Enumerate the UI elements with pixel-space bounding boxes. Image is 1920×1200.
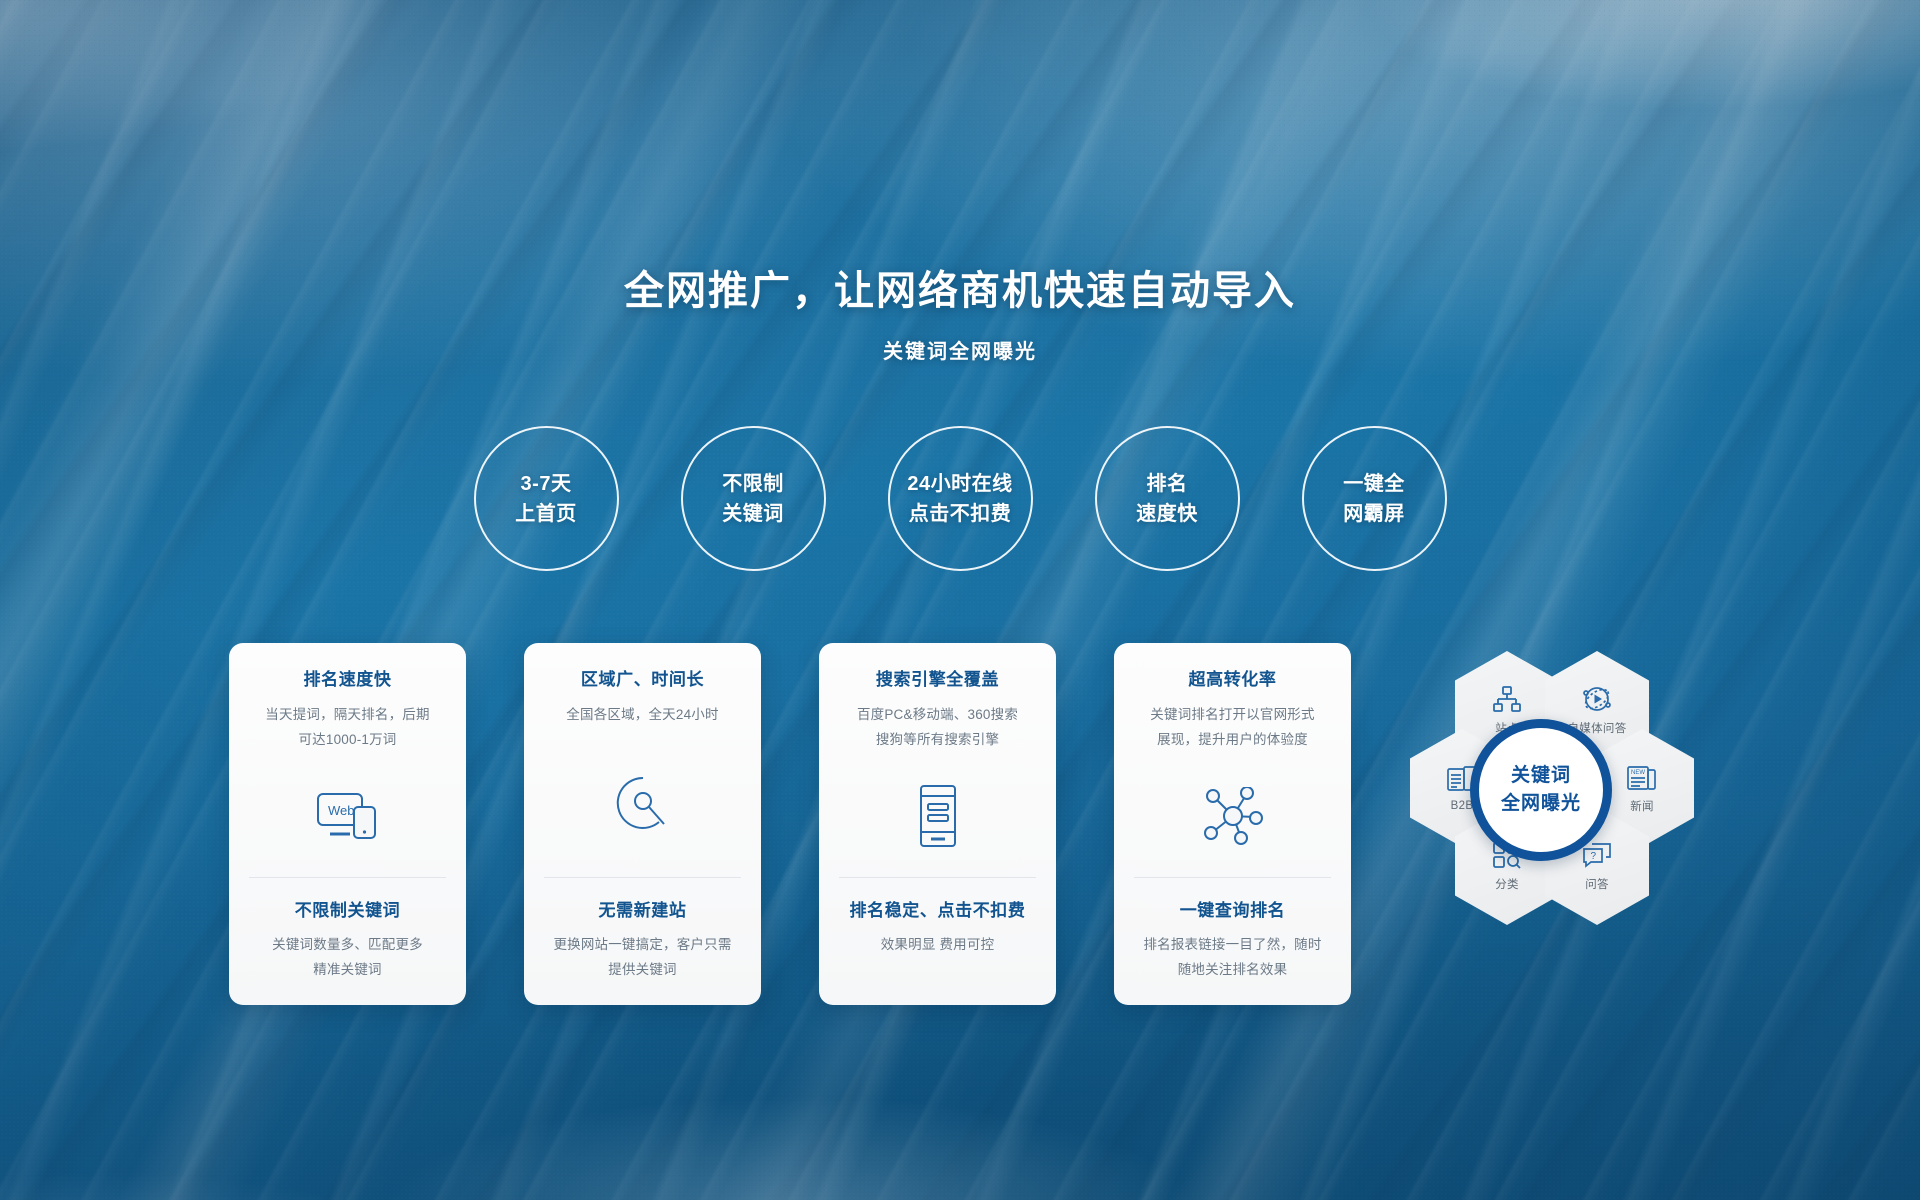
- feature-card-search-engines[interactable]: 搜索引擎全覆盖 百度PC&移动端、360搜索搜狗等所有搜索引擎: [819, 643, 1056, 1005]
- newspaper-new-icon: NEW: [1627, 762, 1657, 792]
- card-description: 百度PC&移动端、360搜索搜狗等所有搜索引擎: [833, 703, 1042, 753]
- circle-badge-line1: 24小时在线: [907, 469, 1012, 499]
- card-title: 一键查询排名: [1128, 896, 1337, 921]
- circle-badge-line2: 关键词: [722, 499, 784, 529]
- card-description: 更换网站一键搞定，客户只需提供关键词: [538, 933, 747, 987]
- card-description: 排名报表链接一目了然，随时随地关注排名效果: [1128, 933, 1337, 987]
- page-title: 全网推广，让网络商机快速自动导入: [0, 258, 1920, 316]
- page-header: 全网推广，让网络商机快速自动导入 关键词全网曝光: [0, 0, 1920, 364]
- card-title: 区域广、时间长: [538, 665, 747, 690]
- circle-badge-line1: 排名: [1147, 469, 1188, 499]
- sitemap-icon: [1493, 684, 1521, 714]
- card-description: 关键词数量多、匹配更多精准关键词: [243, 933, 452, 987]
- lower-section: 排名速度快 当天提词，隔天排名，后期可达1000-1万词 Web: [0, 643, 1920, 1005]
- card-title: 不限制关键词: [243, 896, 452, 921]
- circle-badge-line2: 速度快: [1136, 499, 1198, 529]
- feature-card-row: 排名速度快 当天提词，隔天排名，后期可达1000-1万词 Web: [229, 643, 1351, 1005]
- circle-badge-no-click-fee[interactable]: 24小时在线 点击不扣费: [888, 426, 1033, 571]
- card-divider: [544, 877, 741, 878]
- card-top-block: 区域广、时间长 全国各区域，全天24小时: [538, 665, 747, 873]
- card-description: 当天提词，隔天排名，后期可达1000-1万词: [243, 703, 452, 753]
- card-divider: [249, 877, 446, 878]
- hexagon-center-line2: 全网曝光: [1501, 790, 1581, 818]
- promo-page: 全网推广，让网络商机快速自动导入 关键词全网曝光 3-7天 上首页 不限制 关键…: [0, 0, 1920, 1200]
- circle-badge-line2: 点击不扣费: [909, 499, 1012, 529]
- hexagon-label: 分类: [1495, 876, 1519, 892]
- svg-text:?: ?: [1591, 851, 1597, 862]
- card-title: 无需新建站: [538, 896, 747, 921]
- card-title: 超高转化率: [1128, 665, 1337, 690]
- card-bottom-block: 排名稳定、点击不扣费 效果明显 费用可控: [833, 896, 1042, 962]
- network-nodes-icon: [1128, 759, 1337, 873]
- circle-badge-line1: 3-7天: [521, 469, 572, 499]
- card-bottom-block: 无需新建站 更换网站一键搞定，客户只需提供关键词: [538, 896, 747, 987]
- circle-badge-line1: 一键全: [1343, 469, 1405, 499]
- card-top-block: 超高转化率 关键词排名打开以官网形式展现，提升用户的体验度: [1128, 665, 1337, 873]
- card-divider: [839, 877, 1036, 878]
- circle-badge-one-click-screen[interactable]: 一键全 网霸屏: [1302, 426, 1447, 571]
- card-top-block: 搜索引擎全覆盖 百度PC&移动端、360搜索搜狗等所有搜索引擎: [833, 665, 1042, 873]
- hexagon-channel-cluster: 站点 自媒体问答: [1409, 649, 1709, 949]
- card-title: 排名速度快: [243, 665, 452, 690]
- feature-card-conversion-rate[interactable]: 超高转化率 关键词排名打开以官网形式展现，提升用户的体验度: [1114, 643, 1351, 1005]
- circle-badge-fast-rank[interactable]: 3-7天 上首页: [474, 426, 619, 571]
- hexagon-label: B2B: [1451, 800, 1474, 812]
- magnifier-circle-icon: [538, 734, 747, 873]
- hexagon-label: 新闻: [1630, 798, 1654, 814]
- circle-badge-row: 3-7天 上首页 不限制 关键词 24小时在线 点击不扣费 排名 速度快 一键全…: [0, 426, 1920, 571]
- card-description: 效果明显 费用可控: [833, 933, 1042, 962]
- feature-card-rank-speed[interactable]: 排名速度快 当天提词，隔天排名，后期可达1000-1万词 Web: [229, 643, 466, 1005]
- circle-badge-line2: 上首页: [515, 499, 577, 529]
- card-title: 排名稳定、点击不扣费: [833, 896, 1042, 921]
- hexagon-center-line1: 关键词: [1511, 762, 1571, 790]
- svg-text:NEW: NEW: [1631, 770, 1645, 776]
- mobile-device-icon: [833, 759, 1042, 873]
- circle-badge-line2: 网霸屏: [1343, 499, 1405, 529]
- hexagon-label: 问答: [1585, 876, 1609, 892]
- card-description: 关键词排名打开以官网形式展现，提升用户的体验度: [1128, 703, 1337, 753]
- circle-badge-rank-speed[interactable]: 排名 速度快: [1095, 426, 1240, 571]
- circle-badge-line1: 不限制: [722, 469, 784, 499]
- card-bottom-block: 不限制关键词 关键词数量多、匹配更多精准关键词: [243, 896, 452, 987]
- page-subtitle: 关键词全网曝光: [0, 335, 1920, 364]
- svg-text:Web: Web: [328, 803, 355, 818]
- hexagon-center-badge: 关键词 全网曝光: [1470, 719, 1612, 861]
- feature-card-coverage-time[interactable]: 区域广、时间长 全国各区域，全天24小时 无需新建站 更换网站一键搞定，客户只需…: [524, 643, 761, 1005]
- circle-badge-unlimited-keywords[interactable]: 不限制 关键词: [681, 426, 826, 571]
- card-bottom-block: 一键查询排名 排名报表链接一目了然，随时随地关注排名效果: [1128, 896, 1337, 987]
- card-description: 全国各区域，全天24小时: [538, 703, 747, 728]
- card-top-block: 排名速度快 当天提词，隔天排名，后期可达1000-1万词 Web: [243, 665, 452, 873]
- card-title: 搜索引擎全覆盖: [833, 665, 1042, 690]
- web-device-icon: Web: [243, 759, 452, 873]
- media-play-atom-icon: [1582, 684, 1612, 714]
- card-divider: [1134, 877, 1331, 878]
